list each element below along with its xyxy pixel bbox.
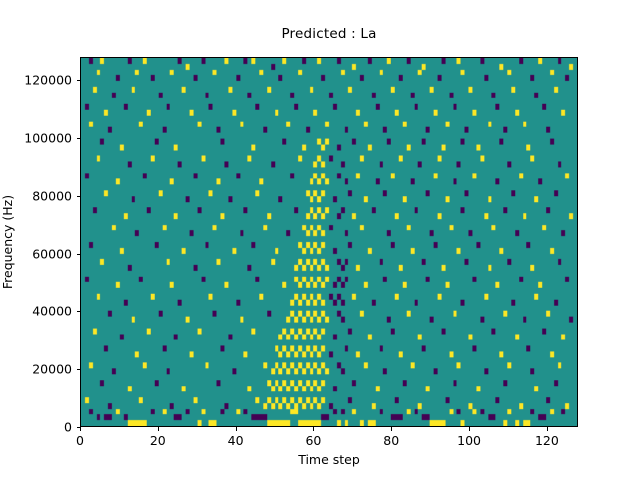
y-tick-label: 0 <box>72 420 80 435</box>
y-tick-label: 100000 <box>72 130 120 145</box>
y-tick-label: 120000 <box>72 73 120 88</box>
x-tick-mark <box>80 427 81 431</box>
x-tick-label: 120 <box>535 433 559 448</box>
x-tick-label: 0 <box>76 433 84 448</box>
y-tick-label: 60000 <box>72 246 112 261</box>
y-tick-label: 40000 <box>72 304 112 319</box>
x-tick-mark <box>313 427 314 431</box>
y-tick-label: 80000 <box>72 188 112 203</box>
x-tick-label: 40 <box>228 433 244 448</box>
spectrogram-heatmap <box>81 58 577 426</box>
x-tick-mark <box>236 427 237 431</box>
x-tick-mark <box>469 427 470 431</box>
matplotlib-figure: Predicted : La 020406080100120 020000400… <box>0 0 640 480</box>
x-tick-mark <box>158 427 159 431</box>
x-tick-label: 20 <box>150 433 166 448</box>
x-tick-label: 80 <box>383 433 399 448</box>
x-tick-mark <box>547 427 548 431</box>
x-axis-label: Time step <box>80 452 578 467</box>
page-title: Predicted : La <box>80 26 578 42</box>
x-tick-mark <box>391 427 392 431</box>
y-axis-label: Frequency (Hz) <box>0 57 16 427</box>
heatmap-axes <box>80 57 578 427</box>
x-tick-label: 100 <box>457 433 481 448</box>
x-tick-label: 60 <box>305 433 321 448</box>
y-tick-label: 20000 <box>72 362 112 377</box>
